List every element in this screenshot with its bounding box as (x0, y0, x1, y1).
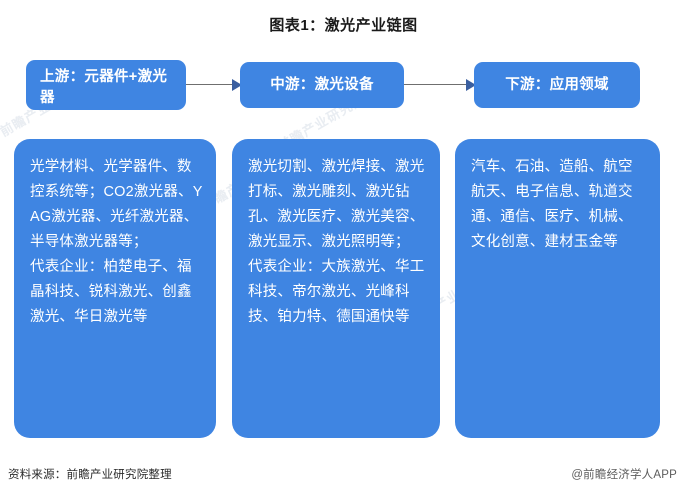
midstream-companies: 代表企业：大族激光、华工科技、帝尔激光、光峰科技、铂力特、德国通快等 (248, 255, 427, 330)
header-label-midstream: 中游：激光设备 (270, 75, 374, 96)
content-box-upstream-text: 光学材料、光学器件、数控系统等；CO2激光器、YAG激光器、光纤激光器、半导体激… (14, 139, 216, 340)
arrow-line (404, 84, 467, 85)
diagram-canvas: 前瞻产业研究院 前瞻产业研究院 前瞻产业研究院 前瞻产业研究院 前瞻产业研究院 … (0, 0, 687, 495)
content-box-midstream: 激光切割、激光焊接、激光打标、激光雕刻、激光钻孔、激光医疗、激光美容、激光显示、… (232, 139, 440, 438)
content-box-midstream-text: 激光切割、激光焊接、激光打标、激光雕刻、激光钻孔、激光医疗、激光美容、激光显示、… (232, 139, 440, 340)
upstream-products: 光学材料、光学器件、数控系统等；CO2激光器、YAG激光器、光纤激光器、半导体激… (30, 155, 203, 255)
content-box-downstream: 汽车、石油、造船、航空航天、电子信息、轨道交通、通信、医疗、机械、文化创意、建材… (455, 139, 660, 438)
arrow-upstream-to-midstream (186, 79, 242, 91)
header-box-downstream: 下游：应用领域 (474, 62, 640, 108)
arrow-line (186, 84, 233, 85)
upstream-companies: 代表企业：柏楚电子、福晶科技、锐科激光、创鑫激光、华日激光等 (30, 255, 203, 330)
downstream-products: 汽车、石油、造船、航空航天、电子信息、轨道交通、通信、医疗、机械、文化创意、建材… (471, 155, 647, 255)
chart-title: 图表1：激光产业链图 (0, 14, 687, 35)
content-box-downstream-text: 汽车、石油、造船、航空航天、电子信息、轨道交通、通信、医疗、机械、文化创意、建材… (455, 139, 660, 265)
content-box-upstream: 光学材料、光学器件、数控系统等；CO2激光器、YAG激光器、光纤激光器、半导体激… (14, 139, 216, 438)
credit-note: @前瞻经济学人APP (571, 466, 677, 482)
arrow-midstream-to-downstream (404, 79, 476, 91)
header-box-midstream: 中游：激光设备 (240, 62, 404, 108)
header-label-upstream: 上游：元器件+激光器 (40, 69, 167, 106)
header-label-downstream: 下游：应用领域 (505, 75, 609, 96)
header-box-upstream: 上游：元器件+激光器 (26, 60, 186, 110)
midstream-products: 激光切割、激光焊接、激光打标、激光雕刻、激光钻孔、激光医疗、激光美容、激光显示、… (248, 155, 427, 255)
source-note: 资料来源：前瞻产业研究院整理 (8, 466, 172, 482)
